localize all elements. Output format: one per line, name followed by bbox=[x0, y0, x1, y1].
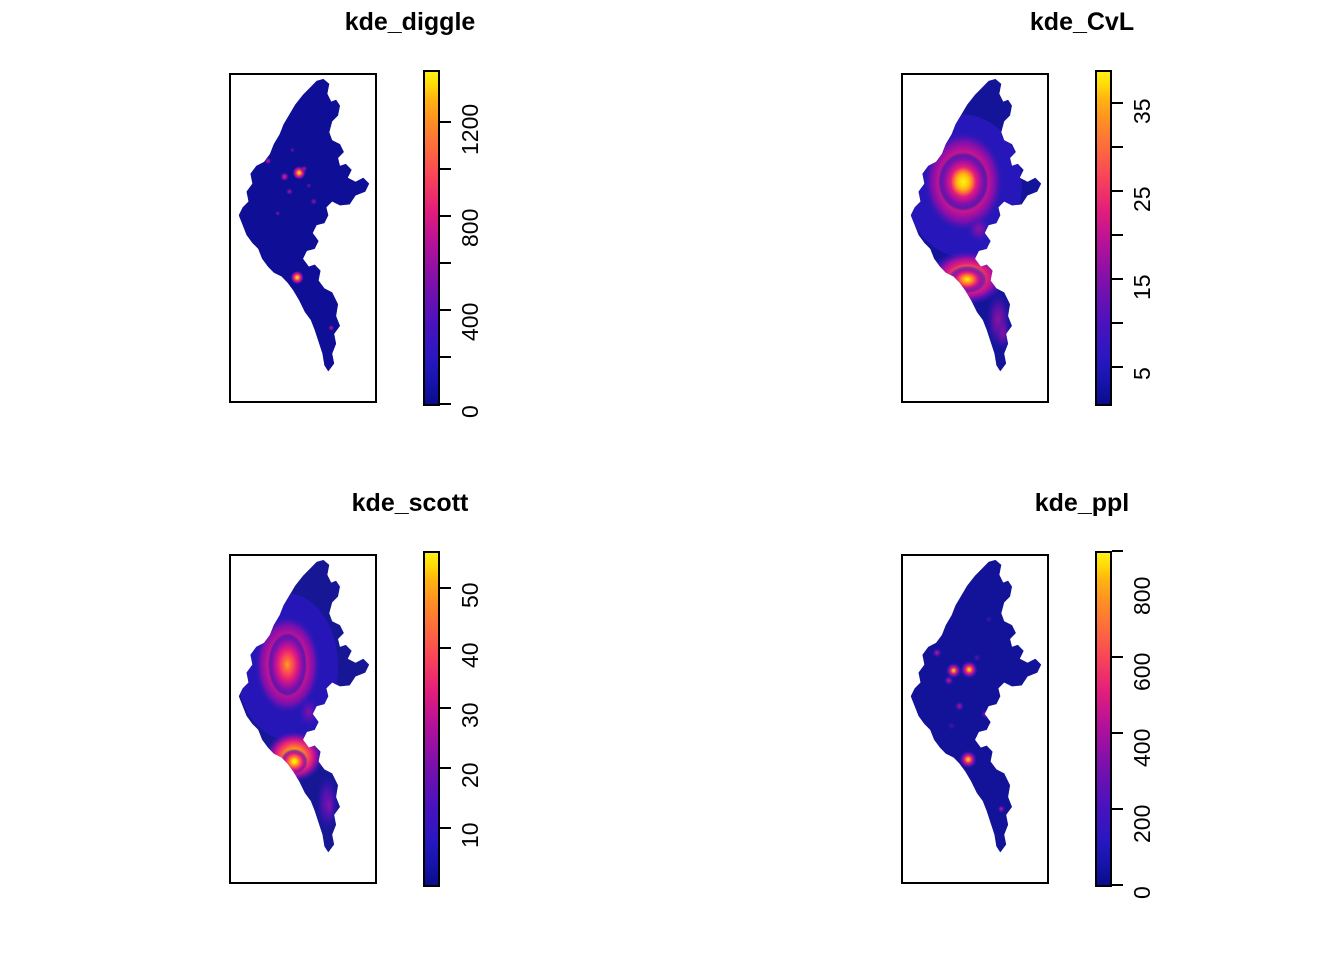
colorbar-label: 30 bbox=[457, 702, 484, 728]
colorbar-tick bbox=[440, 309, 451, 311]
panel-title-kde-scott: kde_scott bbox=[150, 489, 670, 518]
colorbar-kde-cvl: 5 15 25 35 bbox=[1095, 70, 1215, 406]
colorbar-label: 5 bbox=[1129, 367, 1156, 380]
colorbar-tick bbox=[440, 356, 451, 358]
panel-kde-scott: kde_scott bbox=[150, 489, 670, 909]
colorbar-label: 1200 bbox=[457, 104, 484, 155]
panel-title-kde-ppl: kde_ppl bbox=[822, 489, 1342, 518]
map-frame-kde-cvl bbox=[901, 73, 1049, 403]
map-surface-kde-scott bbox=[231, 556, 375, 882]
map-frame-kde-diggle bbox=[229, 73, 377, 403]
colorbar-label: 400 bbox=[457, 303, 484, 341]
colorbar-gradient-kde-diggle bbox=[423, 70, 440, 406]
colorbar-tick bbox=[440, 827, 451, 829]
colorbar-tick bbox=[440, 262, 451, 264]
colorbar-kde-ppl: 0 200 400 600 800 bbox=[1095, 551, 1215, 887]
colorbar-label: 15 bbox=[1129, 274, 1156, 300]
colorbar-tick bbox=[1112, 656, 1123, 658]
colorbar-label: 20 bbox=[457, 762, 484, 788]
colorbar-gradient-kde-scott bbox=[423, 551, 440, 887]
colorbar-label: 400 bbox=[1129, 729, 1156, 767]
colorbar-tick bbox=[1112, 884, 1123, 886]
colorbar-tick bbox=[440, 168, 451, 170]
colorbar-tick bbox=[440, 121, 451, 123]
colorbar-tick bbox=[1112, 234, 1123, 236]
colorbar-tick bbox=[1112, 322, 1123, 324]
map-frame-kde-ppl bbox=[901, 554, 1049, 884]
colorbar-gradient-kde-cvl bbox=[1095, 70, 1112, 406]
colorbar-tick bbox=[1112, 732, 1123, 734]
colorbar-label: 25 bbox=[1129, 186, 1156, 212]
colorbar-label: 800 bbox=[1129, 577, 1156, 615]
kde-figure: kde_diggle bbox=[0, 0, 1344, 960]
panel-kde-cvl: kde_CvL bbox=[822, 8, 1342, 428]
colorbar-label: 40 bbox=[457, 642, 484, 668]
colorbar-kde-scott: 10 20 30 40 50 bbox=[423, 551, 543, 887]
colorbar-label: 10 bbox=[457, 822, 484, 848]
colorbar-label: 200 bbox=[1129, 805, 1156, 843]
colorbar-tick bbox=[440, 767, 451, 769]
colorbar-label: 0 bbox=[457, 405, 484, 418]
colorbar-gradient-kde-ppl bbox=[1095, 551, 1112, 887]
colorbar-label: 35 bbox=[1129, 98, 1156, 124]
panel-title-kde-diggle: kde_diggle bbox=[150, 8, 670, 37]
colorbar-tick bbox=[440, 587, 451, 589]
colorbar-tick bbox=[1112, 366, 1123, 368]
colorbar-tick bbox=[440, 647, 451, 649]
map-surface-kde-cvl bbox=[903, 75, 1047, 401]
colorbar-tick bbox=[440, 707, 451, 709]
panel-kde-ppl: kde_ppl bbox=[822, 489, 1342, 909]
colorbar-tick bbox=[1112, 278, 1123, 280]
colorbar-tick bbox=[1112, 146, 1123, 148]
map-surface-kde-diggle bbox=[231, 75, 375, 401]
panel-title-kde-cvl: kde_CvL bbox=[822, 8, 1342, 37]
colorbar-tick bbox=[440, 215, 451, 217]
colorbar-label: 0 bbox=[1129, 886, 1156, 899]
colorbar-tick bbox=[1112, 550, 1123, 552]
colorbar-tick bbox=[1112, 190, 1123, 192]
colorbar-tick bbox=[1112, 102, 1123, 104]
colorbar-label: 800 bbox=[457, 209, 484, 247]
colorbar-kde-diggle: 0 400 800 1200 bbox=[423, 70, 543, 406]
map-frame-kde-scott bbox=[229, 554, 377, 884]
colorbar-tick bbox=[1112, 808, 1123, 810]
colorbar-label: 50 bbox=[457, 582, 484, 608]
map-surface-kde-ppl bbox=[903, 556, 1047, 882]
colorbar-label: 600 bbox=[1129, 653, 1156, 691]
colorbar-tick bbox=[440, 403, 451, 405]
panel-kde-diggle: kde_diggle bbox=[150, 8, 670, 428]
